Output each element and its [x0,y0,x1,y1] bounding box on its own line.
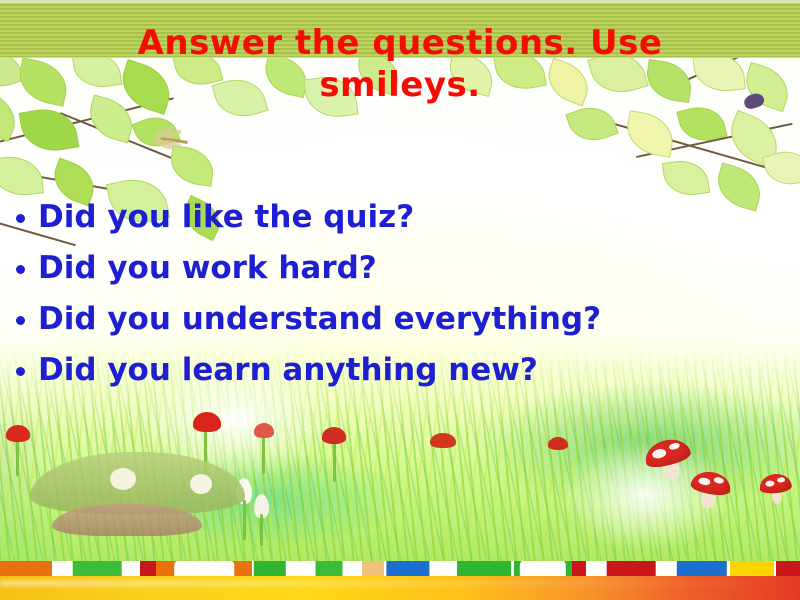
mushroom-cap [759,472,793,494]
strip-dome [252,561,288,576]
strip-block [572,561,586,576]
poppy-flower [430,433,456,448]
strip-block [362,561,384,576]
strip-block [156,561,252,576]
strip-gap [658,561,674,576]
tulip-stalk [243,500,246,540]
strip-block [140,561,156,576]
strip-dome [314,561,344,576]
question-text: Did you learn anything new? [38,352,538,388]
red-mushroom [759,472,794,505]
strip-gap [344,561,362,576]
list-item: Did you like the quiz? [8,192,778,243]
strip-gap [52,561,70,576]
tulip-stalk [260,514,263,546]
nest-blossom [110,468,136,490]
strip-block [0,561,52,576]
bullet-dot-icon [16,367,25,376]
poppy-flower [548,437,568,450]
strip-dome [70,561,124,576]
strip-gap [124,561,140,576]
poppy-flower [322,427,346,444]
nest-blossom [190,474,212,494]
strip-dome [384,561,432,576]
strip-block [730,561,774,576]
strip-dome [774,561,800,576]
strip-dome [604,561,658,576]
bullet-dot-icon [16,214,25,223]
list-item: Did you learn anything new? [8,345,778,396]
red-mushroom [687,469,733,511]
strip-dome [454,561,514,576]
strip-dome [674,561,730,576]
strip-gap [432,561,454,576]
bottom-color-bar [0,576,800,600]
strip-gap [586,561,604,576]
top-band-highlight [0,0,800,3]
strip-gap [288,561,314,576]
question-text: Did you understand everything? [38,301,601,337]
bullet-dot-icon [16,316,25,325]
question-text: Did you work hard? [38,250,377,286]
bullet-dot-icon [16,265,25,274]
presentation-slide: Answer the questions. Use smileys. Did y… [0,0,800,600]
poppy-flower [254,423,274,438]
list-item: Did you understand everything? [8,294,778,345]
question-list: Did you like the quiz? Did you work hard… [8,192,778,396]
flower-stalk [16,436,19,476]
question-text: Did you like the quiz? [38,199,414,235]
poppy-flower [193,412,221,432]
dragonfly-icon [146,128,192,152]
bottom-decorative-strip [0,561,800,576]
poppy-flower [6,425,30,442]
list-item: Did you work hard? [8,243,778,294]
strip-block [514,561,572,576]
slide-title: Answer the questions. Use smileys. [55,22,745,106]
